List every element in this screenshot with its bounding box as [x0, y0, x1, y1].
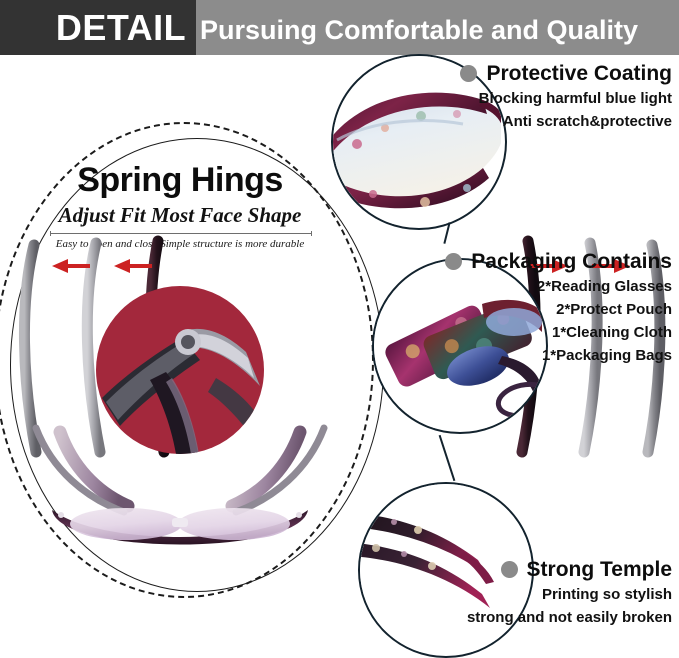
callout-title-text: Packaging Contains	[471, 250, 672, 273]
callout-title: Protective Coating	[372, 60, 672, 87]
bullet-icon	[460, 65, 477, 82]
callout-line: Anti scratch&protective	[372, 110, 672, 133]
callout-strong-temple: Strong Temple Printing so stylish strong…	[372, 556, 672, 629]
callout-line: 1*Cleaning Cloth	[372, 321, 672, 344]
product-detail-infographic: DETAIL Pursuing Comfortable and Quality …	[0, 0, 679, 653]
bullet-icon	[445, 253, 462, 270]
callout-line: 2*Protect Pouch	[372, 298, 672, 321]
callout-packaging-contains: Packaging Contains 2*Reading Glasses 2*P…	[372, 248, 672, 367]
callout-line: strong and not easily broken	[372, 606, 672, 629]
bullet-icon	[501, 561, 518, 578]
spring-hinge-inset	[96, 286, 264, 454]
callout-title-text: Strong Temple	[527, 558, 672, 581]
callout-title-text: Protective Coating	[486, 62, 672, 85]
hinge-macro-image	[96, 286, 264, 454]
flex-arrow-left-1	[52, 259, 90, 273]
callout-protective-coating: Protective Coating Blocking harmful blue…	[372, 60, 672, 133]
callout-line: Printing so stylish	[372, 583, 672, 606]
callout-line: Blocking harmful blue light	[372, 87, 672, 110]
callout-line: 1*Packaging Bags	[372, 344, 672, 367]
callout-title: Strong Temple	[372, 556, 672, 583]
callout-title: Packaging Contains	[372, 248, 672, 275]
callout-line: 2*Reading Glasses	[372, 275, 672, 298]
flex-arrow-left-2	[114, 259, 152, 273]
